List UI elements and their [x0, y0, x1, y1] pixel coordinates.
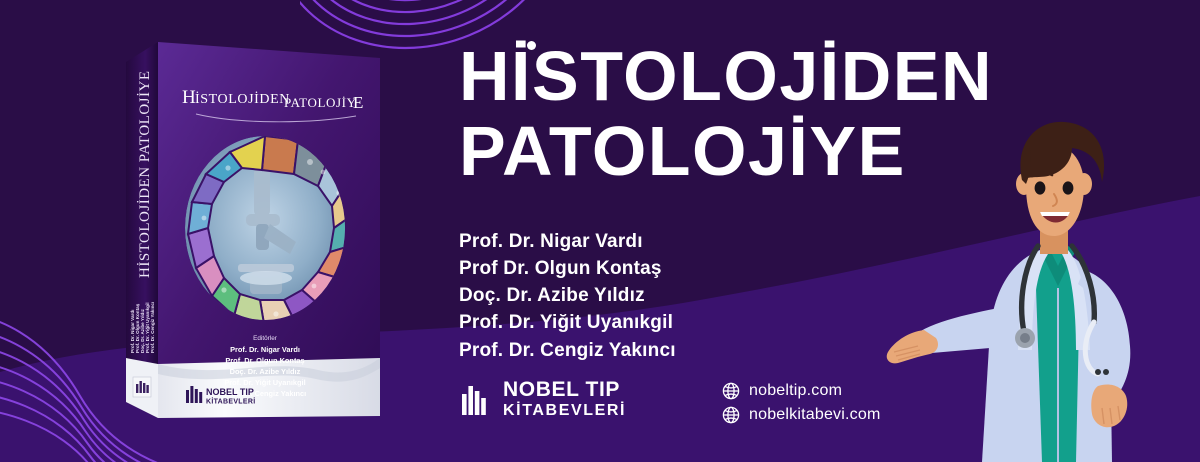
svg-text:Prof. Dr. Cengiz Yakıncı: Prof. Dr. Cengiz Yakıncı	[150, 302, 155, 353]
svg-text:NOBEL TIP: NOBEL TIP	[206, 387, 254, 397]
svg-text:Editörler: Editörler	[253, 335, 278, 342]
svg-text:Doç. Dr. Azibe Yıldız: Doç. Dr. Azibe Yıldız	[230, 367, 301, 376]
author-list: Prof. Dr. Nigar Vardı Prof Dr. Olgun Kon…	[459, 228, 676, 364]
svg-text:Prof. Dr. Yiğit Uyanıkgil: Prof. Dr. Yiğit Uyanıkgil	[224, 378, 305, 387]
svg-text:E: E	[353, 93, 363, 112]
title-line-1: HİSTOLOJİDEN	[459, 42, 1059, 111]
website-url: nobelkitabevi.com	[749, 406, 880, 424]
publisher-name-line2: KİTABEVLERİ	[503, 403, 626, 419]
doctor-illustration	[872, 120, 1200, 462]
svg-text:Prof. Dr. Nigar Vardı: Prof. Dr. Nigar Vardı	[230, 345, 300, 354]
website-link[interactable]: nobelkitabevi.com	[722, 406, 880, 424]
svg-text:HİSTOLOJİDEN PATOLOJİYE: HİSTOLOJİDEN PATOLOJİYE	[137, 71, 153, 278]
website-url: nobeltip.com	[749, 382, 842, 400]
website-link[interactable]: nobeltip.com	[722, 382, 880, 400]
svg-text:PATOLOJİY: PATOLOJİY	[284, 95, 357, 110]
author-name: Prof Dr. Olgun Kontaş	[459, 255, 676, 282]
svg-text:H: H	[182, 87, 196, 108]
svg-text:İSTOLOJİDEN: İSTOLOJİDEN	[195, 91, 290, 107]
publisher-name-line1: NOBEL TIP	[503, 379, 626, 400]
website-list: nobeltip.com nobelkitabevi.com	[722, 382, 880, 430]
svg-text:KİTABEVLERİ: KİTABEVLERİ	[206, 398, 255, 406]
author-name: Prof. Dr. Nigar Vardı	[459, 228, 676, 255]
promo-banner: HİSTOLOJİDEN PATOLOJİYE Prof. Dr. Nigar …	[0, 0, 1200, 462]
book-cover-image: HİSTOLOJİDEN PATOLOJİYE Prof. Dr. Nigar …	[118, 28, 388, 432]
author-name: Prof. Dr. Cengiz Yakıncı	[459, 337, 676, 364]
nobel-building-icon	[462, 382, 492, 416]
author-name: Prof. Dr. Yiğit Uyanıkgil	[459, 309, 676, 336]
globe-icon	[722, 382, 740, 400]
svg-text:Prof. Dr. Olgun Kontaş: Prof. Dr. Olgun Kontaş	[225, 356, 304, 365]
publisher-logo: NOBEL TIP KİTABEVLERİ	[462, 379, 626, 419]
globe-icon	[722, 406, 740, 424]
author-name: Doç. Dr. Azibe Yıldız	[459, 282, 676, 309]
